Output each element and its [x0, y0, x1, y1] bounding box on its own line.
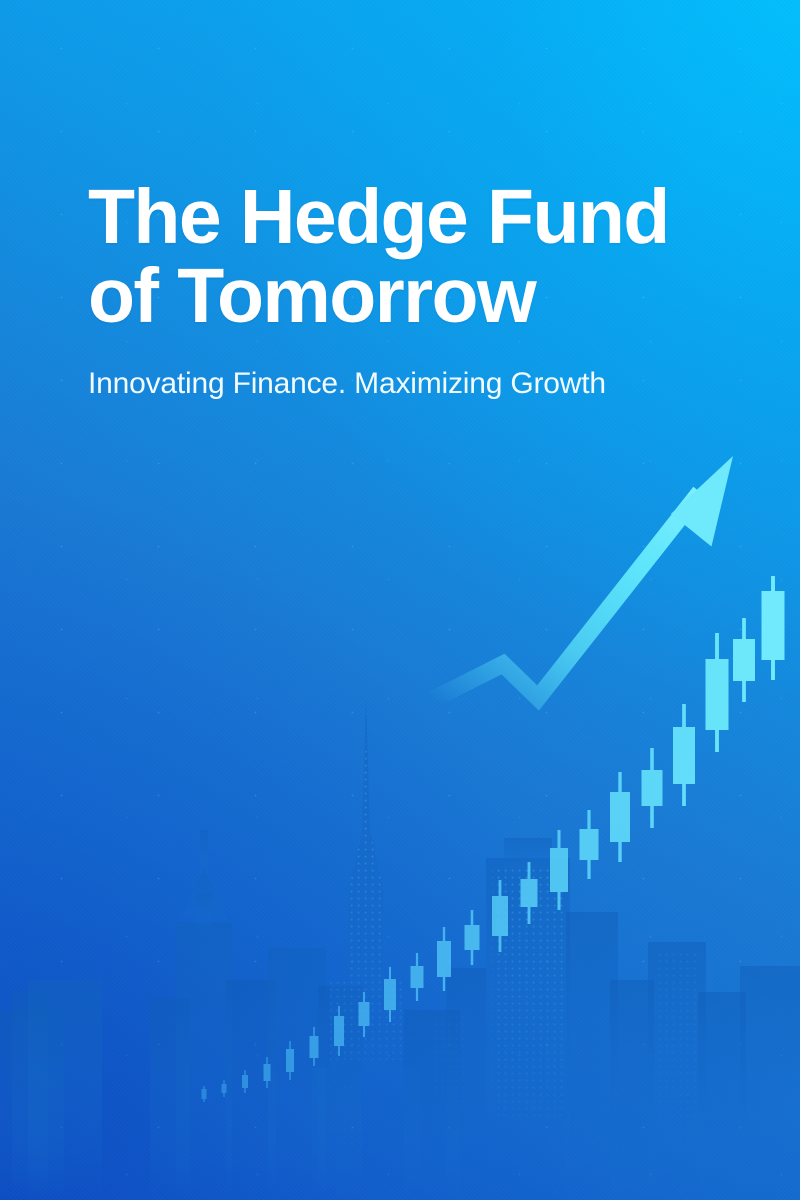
arrow-shaft	[432, 492, 700, 700]
candlestick	[465, 910, 480, 965]
candlestick	[762, 576, 785, 680]
candle-body	[437, 941, 451, 977]
candlestick	[437, 927, 451, 991]
candlestick	[411, 953, 424, 1001]
candlestick	[384, 967, 396, 1022]
candle-body	[465, 925, 480, 950]
candlestick	[222, 1080, 227, 1097]
candlestick	[492, 880, 508, 952]
candlestick	[610, 772, 630, 862]
candle-body	[673, 727, 695, 784]
candle-body	[706, 659, 729, 730]
candle-body	[264, 1064, 271, 1081]
page-title: The Hedge Fund of Tomorrow	[88, 178, 748, 336]
candlestick	[359, 992, 370, 1037]
candlestick	[242, 1070, 248, 1093]
candle-body	[334, 1016, 344, 1046]
candle-body	[550, 848, 568, 892]
candlestick	[310, 1027, 319, 1066]
page-subtitle: Innovating Finance. Maximizing Growth	[88, 336, 748, 402]
candlestick	[202, 1086, 207, 1102]
arrow-head	[671, 456, 733, 547]
candlestick	[264, 1057, 271, 1088]
candle-body	[411, 966, 424, 988]
candle-body	[642, 770, 663, 806]
poster-copy-block: The Hedge Fund of Tomorrow Innovating Fi…	[88, 178, 748, 402]
candlestick-series	[202, 576, 785, 1102]
candlestick	[706, 633, 729, 752]
candlestick	[334, 1006, 344, 1056]
candlestick	[673, 704, 695, 806]
candle-body	[521, 879, 538, 907]
poster-canvas: The Hedge Fund of Tomorrow Innovating Fi…	[0, 0, 800, 1200]
candlestick	[580, 810, 599, 879]
candle-body	[359, 1002, 370, 1026]
candle-body	[384, 979, 396, 1010]
candlestick	[733, 618, 755, 702]
candlestick	[550, 830, 568, 910]
candle-body	[580, 829, 599, 860]
candle-body	[310, 1036, 319, 1058]
candle-body	[733, 639, 755, 681]
candlestick	[521, 862, 538, 924]
candle-body	[492, 896, 508, 936]
candlestick	[642, 748, 663, 828]
candlestick	[286, 1041, 294, 1080]
trend-arrow	[432, 456, 733, 700]
candle-body	[286, 1049, 294, 1072]
candle-body	[762, 591, 785, 660]
candle-body	[222, 1084, 227, 1093]
candle-body	[610, 792, 630, 842]
candle-body	[202, 1089, 207, 1099]
candle-body	[242, 1075, 248, 1088]
